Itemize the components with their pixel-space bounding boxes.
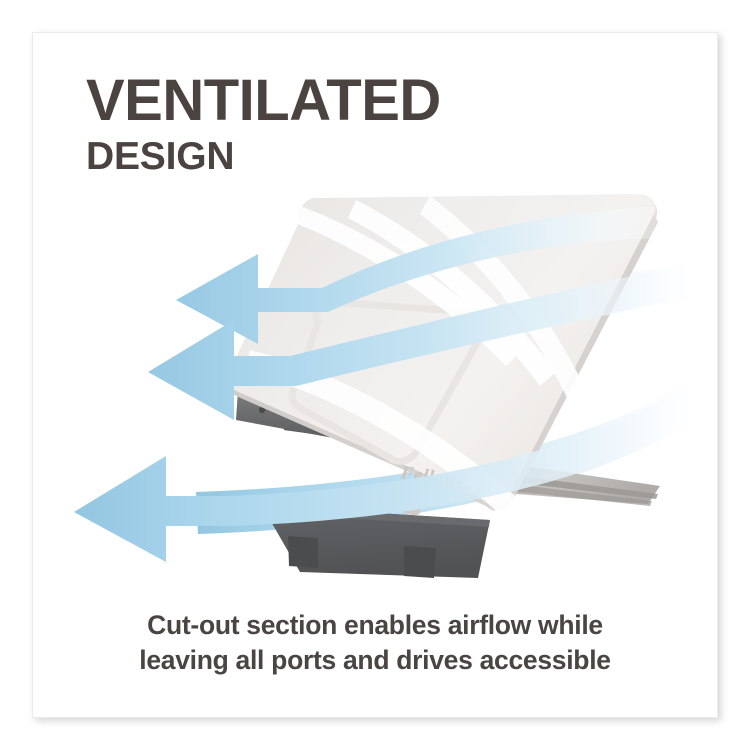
headline-line-2: DESIGN bbox=[86, 137, 441, 176]
caption-line-1: Cut-out section enables airflow while bbox=[0, 608, 750, 643]
headline-line-1: VENTILATED bbox=[86, 72, 441, 130]
caption: Cut-out section enables airflow while le… bbox=[0, 608, 750, 678]
product-marketing-poster: VENTILATED DESIGN bbox=[0, 0, 750, 750]
page-title: VENTILATED DESIGN bbox=[86, 72, 441, 176]
caption-line-2: leaving all ports and drives accessible bbox=[0, 643, 750, 678]
